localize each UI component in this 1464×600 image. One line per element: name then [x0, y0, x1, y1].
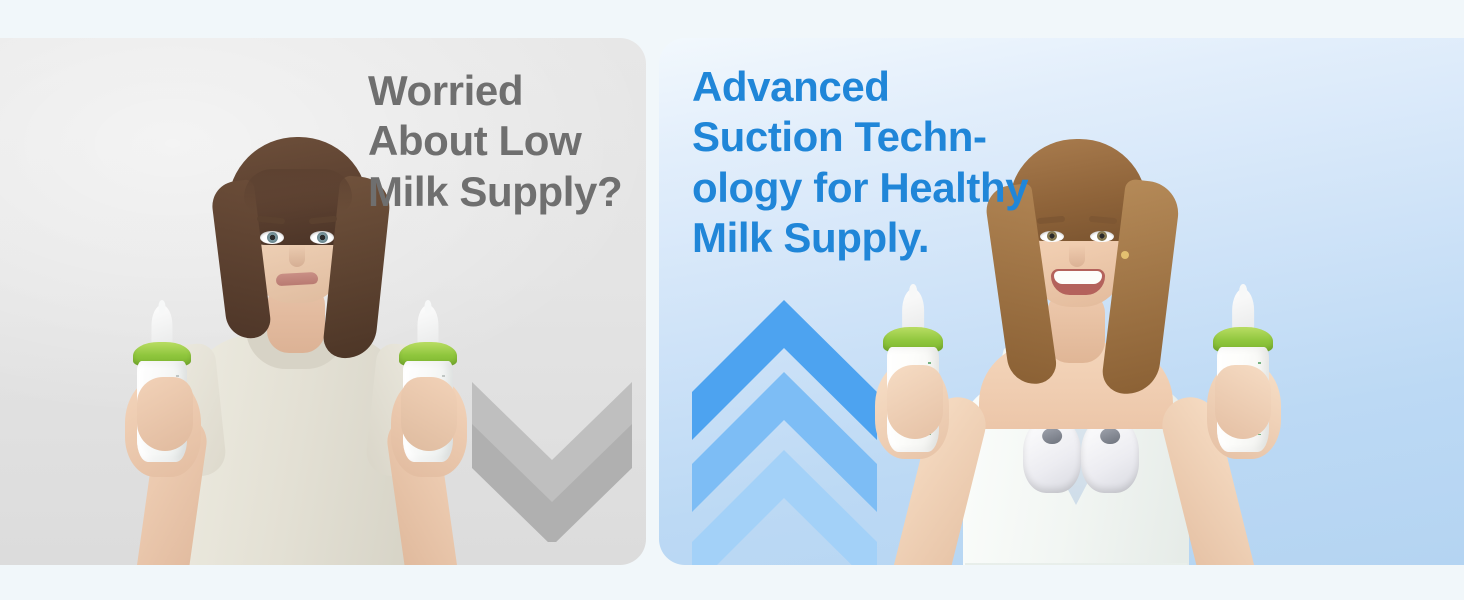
happy-mother-nose — [1069, 245, 1085, 267]
banner-stage: Worried About Low Milk Supply? — [0, 0, 1464, 600]
happy-mother-iris-right — [1097, 231, 1107, 241]
mother-iris-left — [267, 232, 278, 243]
earring-icon — [1121, 251, 1129, 259]
happy-mother-fingers-left — [887, 365, 943, 439]
happy-mother-teeth — [1054, 271, 1102, 284]
bottle-nipple-icon — [902, 289, 924, 332]
happy-mother-fingers-right — [1215, 365, 1271, 439]
problem-headline: Worried About Low Milk Supply? — [368, 66, 668, 217]
mother-fingers-left — [137, 377, 193, 451]
happy-mother-mouth — [1051, 269, 1105, 295]
double-chevron-down-icon — [472, 382, 632, 542]
camisole-waistband — [965, 563, 1187, 565]
pump-dial-icon — [1042, 428, 1062, 445]
mother-nose — [289, 245, 305, 267]
bottle-nipple-icon — [417, 305, 438, 347]
bottle-nipple-icon — [151, 305, 172, 347]
pump-dial-icon — [1100, 428, 1120, 445]
mother-mouth — [276, 272, 319, 286]
bottle-nipple-icon — [1232, 289, 1254, 332]
triple-chevron-up-icon — [692, 300, 877, 565]
mother-fingers-right — [401, 377, 457, 451]
solution-headline: Advanced Suction Techn- ology for Health… — [692, 62, 1062, 264]
mother-iris-right — [317, 232, 328, 243]
mother-hair-fringe — [244, 169, 352, 213]
